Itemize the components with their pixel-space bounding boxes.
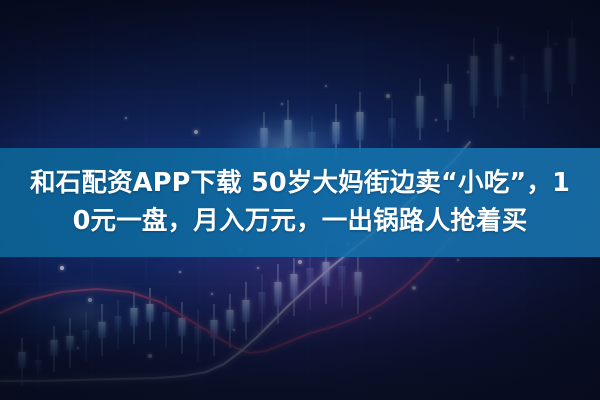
headline-line-1: 和石配资APP下载 50岁大妈街边卖“小吃”，1 bbox=[30, 165, 570, 202]
promo-banner-image: 和石配资APP下载 50岁大妈街边卖“小吃”，1 0元一盘，月入万元，一出锅路人… bbox=[0, 0, 600, 400]
headline-line-2: 0元一盘，月入万元，一出锅路人抢着买 bbox=[73, 203, 528, 240]
headline-banner: 和石配资APP下载 50岁大妈街边卖“小吃”，1 0元一盘，月入万元，一出锅路人… bbox=[0, 148, 600, 257]
